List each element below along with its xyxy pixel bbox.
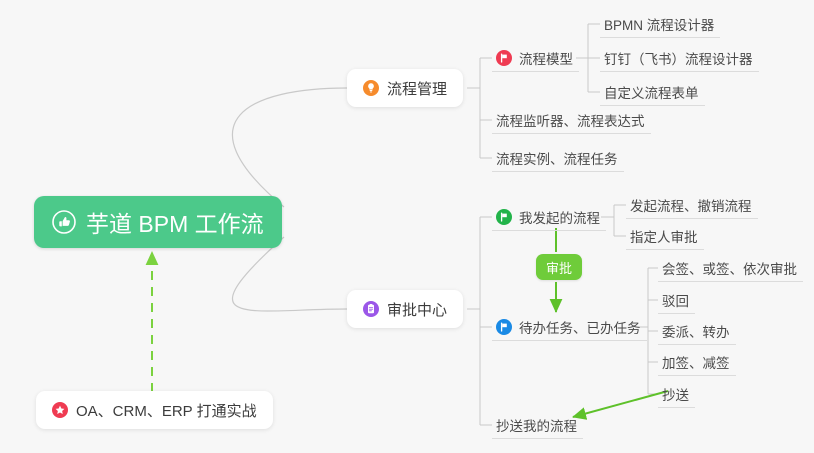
- node-label: 加签、减签: [662, 352, 730, 372]
- node-label: 流程监听器、流程表达式: [496, 110, 645, 130]
- node-label: 发起流程、撤销流程: [630, 195, 752, 215]
- node-label: BPMN 流程设计器: [604, 14, 714, 34]
- node-assignee-approval[interactable]: 指定人审批: [626, 222, 704, 250]
- branch-label: 审批中心: [387, 299, 447, 320]
- node-reject[interactable]: 驳回: [658, 286, 695, 314]
- node-label: 自定义流程表单: [604, 82, 699, 102]
- flag-icon: [496, 319, 512, 335]
- thumbs-up-icon: [52, 210, 76, 234]
- node-label: 待办任务、已办任务: [519, 317, 641, 337]
- approval-tag-label: 审批: [546, 258, 572, 277]
- node-todo-done[interactable]: 待办任务、已办任务: [492, 313, 647, 341]
- node-label: 驳回: [662, 290, 689, 310]
- bottom-note-card[interactable]: OA、CRM、ERP 打通实战: [36, 391, 273, 429]
- node-bpmn-designer[interactable]: BPMN 流程设计器: [600, 10, 720, 38]
- mindmap-canvas: 芋道 BPM 工作流 流程管理 流程模型 BPMN 流程设计器 钉钉（飞书）流程: [0, 0, 814, 453]
- node-add-remove-sign[interactable]: 加签、减签: [658, 348, 736, 376]
- star-icon: [52, 402, 68, 418]
- root-node[interactable]: 芋道 BPM 工作流: [34, 196, 282, 248]
- node-process-model[interactable]: 流程模型: [492, 44, 579, 72]
- node-listener-expression[interactable]: 流程监听器、流程表达式: [492, 106, 651, 134]
- node-my-initiated[interactable]: 我发起的流程: [492, 203, 606, 231]
- lightbulb-icon: [363, 80, 379, 96]
- bottom-note-label: OA、CRM、ERP 打通实战: [76, 400, 257, 421]
- node-start-cancel[interactable]: 发起流程、撤销流程: [626, 191, 758, 219]
- node-delegate-transfer[interactable]: 委派、转办: [658, 317, 736, 345]
- node-label: 钉钉（飞书）流程设计器: [604, 48, 753, 68]
- node-dingtalk-feishu-designer[interactable]: 钉钉（飞书）流程设计器: [600, 44, 759, 72]
- node-label: 指定人审批: [630, 226, 698, 246]
- flag-icon: [496, 209, 512, 225]
- branch-label: 流程管理: [387, 78, 447, 99]
- node-cc[interactable]: 抄送: [658, 380, 695, 408]
- approval-tag: 审批: [536, 254, 582, 280]
- branch-approval-center[interactable]: 审批中心: [347, 290, 463, 328]
- node-label: 委派、转办: [662, 321, 730, 341]
- node-label: 抄送我的流程: [496, 415, 577, 435]
- node-label: 会签、或签、依次审批: [662, 258, 797, 278]
- node-label: 流程实例、流程任务: [496, 148, 618, 168]
- node-label: 我发起的流程: [519, 207, 600, 227]
- flag-icon: [496, 50, 512, 66]
- node-instance-task[interactable]: 流程实例、流程任务: [492, 144, 624, 172]
- node-label: 抄送: [662, 384, 689, 404]
- clipboard-icon: [363, 301, 379, 317]
- node-cc-to-me[interactable]: 抄送我的流程: [492, 411, 583, 439]
- branch-process-management[interactable]: 流程管理: [347, 69, 463, 107]
- node-countersign[interactable]: 会签、或签、依次审批: [658, 254, 803, 282]
- node-custom-process-form[interactable]: 自定义流程表单: [600, 78, 705, 106]
- node-label: 流程模型: [519, 48, 573, 68]
- root-label: 芋道 BPM 工作流: [86, 205, 264, 239]
